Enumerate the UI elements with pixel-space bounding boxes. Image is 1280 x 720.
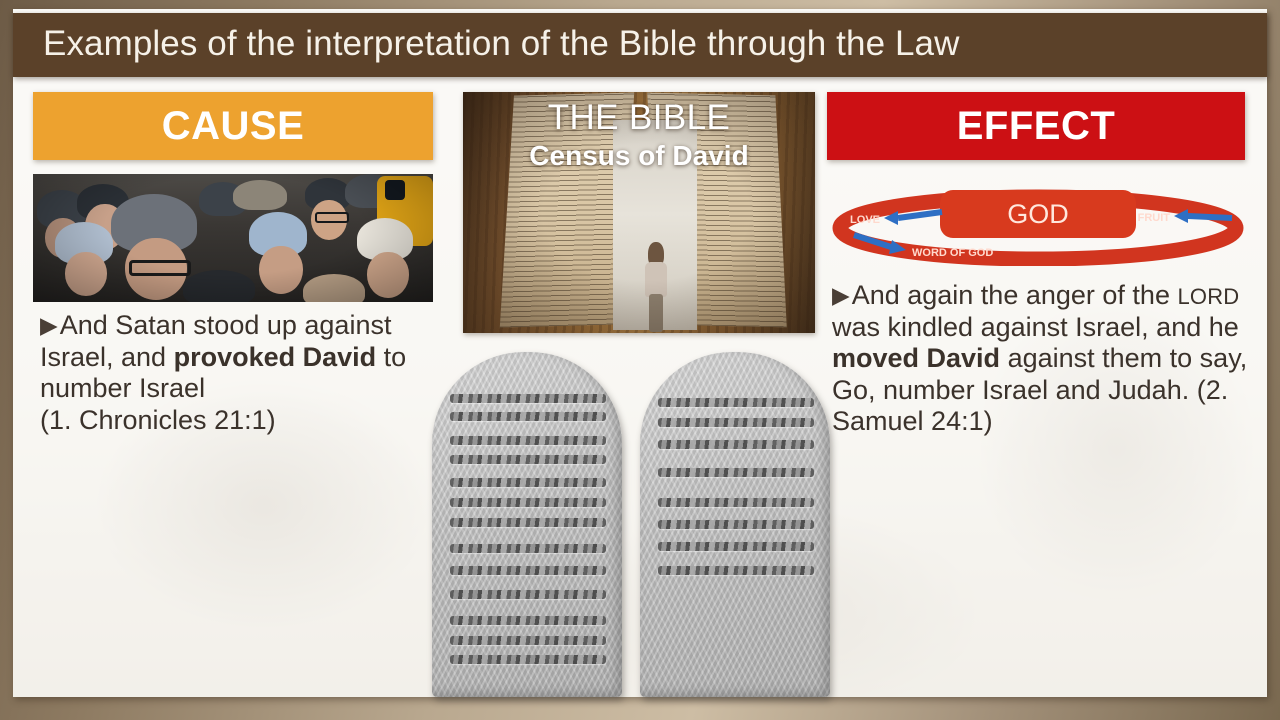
effect-banner: EFFECT <box>827 92 1245 160</box>
photo-vignette <box>463 92 815 333</box>
tablet-engraving-line <box>450 655 606 664</box>
tablet-engraving-line <box>450 590 606 599</box>
cause-banner-label: CAUSE <box>162 104 305 149</box>
god-label: GOD <box>1007 199 1069 229</box>
fruit-label: FRUIT <box>1138 212 1171 224</box>
tablet-engraving-line <box>450 478 606 487</box>
word-of-god-label: WORD OF GOD <box>912 247 993 259</box>
tablet-engraving-line <box>658 566 814 575</box>
effect-body-text: ▶And again the anger of the LORD was kin… <box>832 280 1256 438</box>
bullet-arrow-icon: ▶ <box>40 314 58 337</box>
tablet-engraving-line <box>658 468 814 477</box>
bible-photo <box>463 92 815 333</box>
stone-tablet-left <box>432 352 622 697</box>
effect-text-emphasis: moved David <box>832 343 1000 373</box>
photo-vignette <box>33 174 433 302</box>
love-label: LOVE <box>850 214 880 226</box>
tablet-engraving-line <box>450 544 606 553</box>
tablet-engraving-line <box>658 520 814 529</box>
slide-frame: Examples of the interpretation of the Bi… <box>0 0 1280 720</box>
stone-tablets <box>432 352 836 697</box>
tablet-engraving-line <box>658 418 814 427</box>
tablet-engraving-line <box>658 498 814 507</box>
god-cycle-diagram: GOD LOVE FRUIT WORD OF GOD <box>832 178 1244 266</box>
effect-text-part-1: And again the anger of the <box>852 280 1178 310</box>
tablet-engraving-line <box>450 455 606 464</box>
crowd-photo <box>33 174 433 302</box>
tablet-engraving-line <box>658 440 814 449</box>
cause-reference: (1. Chronicles 21:1) <box>40 405 276 435</box>
tablet-engraving-line <box>450 498 606 507</box>
tablet-engraving-line <box>450 412 606 421</box>
tablet-engraving-line <box>450 566 606 575</box>
stone-tablet-right <box>640 352 830 697</box>
tablet-engraving-line <box>450 636 606 645</box>
bullet-arrow-icon: ▶ <box>832 284 850 307</box>
page-title: Examples of the interpretation of the Bi… <box>43 24 959 64</box>
tablet-engraving-line <box>450 616 606 625</box>
tablet-engraving-line <box>450 436 606 445</box>
effect-text-part-3: was kindled against Israel, and he <box>832 312 1239 342</box>
tablet-engraving-line <box>658 398 814 407</box>
cause-banner: CAUSE <box>33 92 433 160</box>
tablet-engraving-line <box>450 394 606 403</box>
cause-body-text: ▶And Satan stood up against Israel, and … <box>40 310 440 436</box>
cause-text-emphasis: provoked David <box>174 342 377 372</box>
slide-title-bar: Examples of the interpretation of the Bi… <box>13 13 1267 77</box>
lord-smallcaps: LORD <box>1177 284 1239 309</box>
tablet-engraving-line <box>450 518 606 527</box>
effect-banner-label: EFFECT <box>957 104 1116 149</box>
god-cycle-svg: GOD LOVE FRUIT WORD OF GOD <box>832 178 1244 266</box>
tablet-engraving-line <box>658 542 814 551</box>
